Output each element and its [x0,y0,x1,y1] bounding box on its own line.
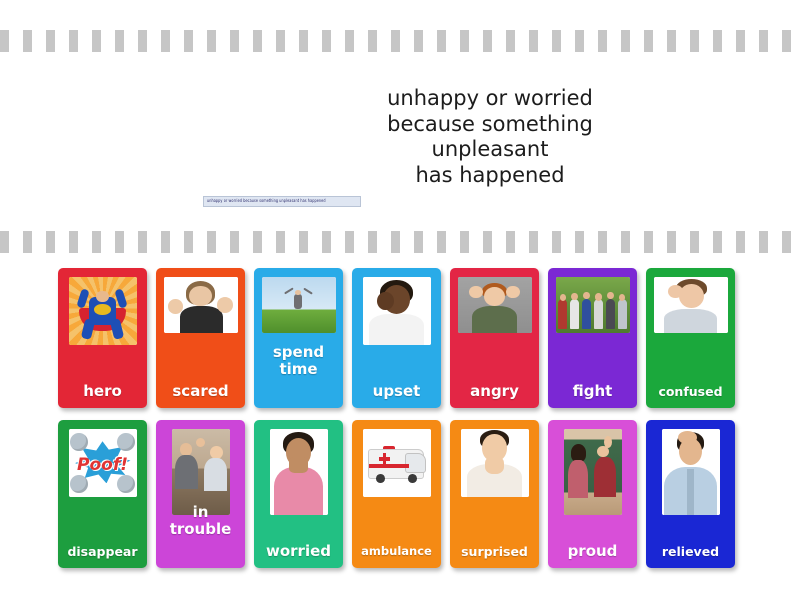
card-image-fight [556,277,630,333]
card-image-upset [363,277,431,345]
card-relieved[interactable]: relieved [646,420,735,568]
card-image-ambulance [363,429,431,497]
card-ambulance[interactable]: ambulance [352,420,441,568]
card-label-scared: scared [156,383,245,400]
card-image-angry [458,277,532,333]
card-row-1: hero scared [58,268,744,408]
card-image-relieved [662,429,720,515]
card-label-in-trouble: in trouble [156,504,245,538]
card-upset[interactable]: upset [352,268,441,408]
card-disappear[interactable]: Poof! disappear [58,420,147,568]
card-hero[interactable]: hero [58,268,147,408]
card-label-confused: confused [646,383,735,400]
card-grid: hero scared [58,268,744,568]
card-surprised[interactable]: surprised [450,420,539,568]
card-image-proud [564,429,622,515]
card-label-hero: hero [58,383,147,400]
dashed-divider-middle [0,231,800,253]
prompt-chip-label: unhappy or worried because something unp… [204,196,360,207]
card-label-spend-time: spend time [254,344,343,378]
card-label-surprised: surprised [450,543,539,560]
card-label-upset: upset [352,383,441,400]
card-label-worried: worried [254,543,343,560]
card-label-fight: fight [548,383,637,400]
prompt-area: unhappy or worried because something unp… [0,60,800,220]
card-label-disappear: disappear [58,543,147,560]
card-image-worried [270,429,328,515]
card-image-surprised [461,429,529,497]
card-image-spend-time [262,277,336,333]
card-label-proud: proud [548,543,637,560]
card-image-confused [654,277,728,333]
card-in-trouble[interactable]: in trouble [156,420,245,568]
card-proud[interactable]: proud [548,420,637,568]
prompt-definition-text: unhappy or worried because something unp… [330,86,650,188]
card-label-angry: angry [450,383,539,400]
card-worried[interactable]: worried [254,420,343,568]
card-label-relieved: relieved [646,543,735,560]
card-row-2: Poof! disappear in trouble [58,420,744,568]
card-image-disappear: Poof! [69,429,137,497]
card-fight[interactable]: fight [548,268,637,408]
dashed-divider-top [0,30,800,52]
card-image-hero [69,277,137,345]
card-angry[interactable]: angry [450,268,539,408]
card-confused[interactable]: confused [646,268,735,408]
card-spend-time[interactable]: spend time [254,268,343,408]
prompt-chip[interactable]: unhappy or worried because something unp… [203,196,361,207]
card-scared[interactable]: scared [156,268,245,408]
card-image-scared [164,277,238,333]
card-label-ambulance: ambulance [352,543,441,560]
